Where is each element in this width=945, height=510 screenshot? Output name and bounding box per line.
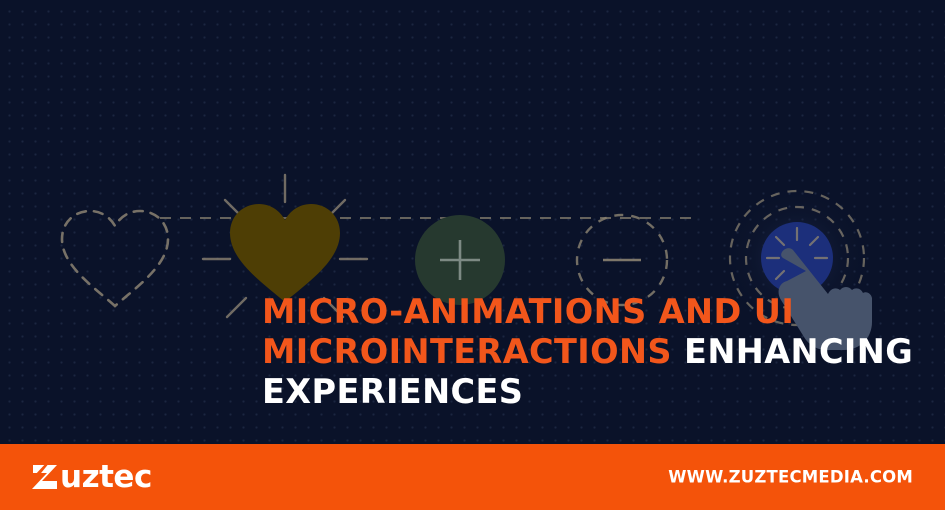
page-title: MICRO-ANIMATIONS AND UI MICROINTERACTION… [262, 292, 932, 412]
poster-canvas: MICRO-ANIMATIONS AND UI MICROINTERACTION… [0, 0, 945, 510]
brand-logo-wordmark: uztec [60, 462, 152, 493]
illustration-layer [0, 0, 945, 510]
brand-logo[interactable]: uztec [30, 461, 152, 493]
z-slash-logo-icon [30, 461, 60, 493]
site-url-text[interactable]: WWW.ZUZTECMEDIA.COM [668, 468, 913, 487]
footer-bar: uztec WWW.ZUZTECMEDIA.COM [0, 444, 945, 510]
heart-outline-dashed-icon [62, 211, 168, 306]
